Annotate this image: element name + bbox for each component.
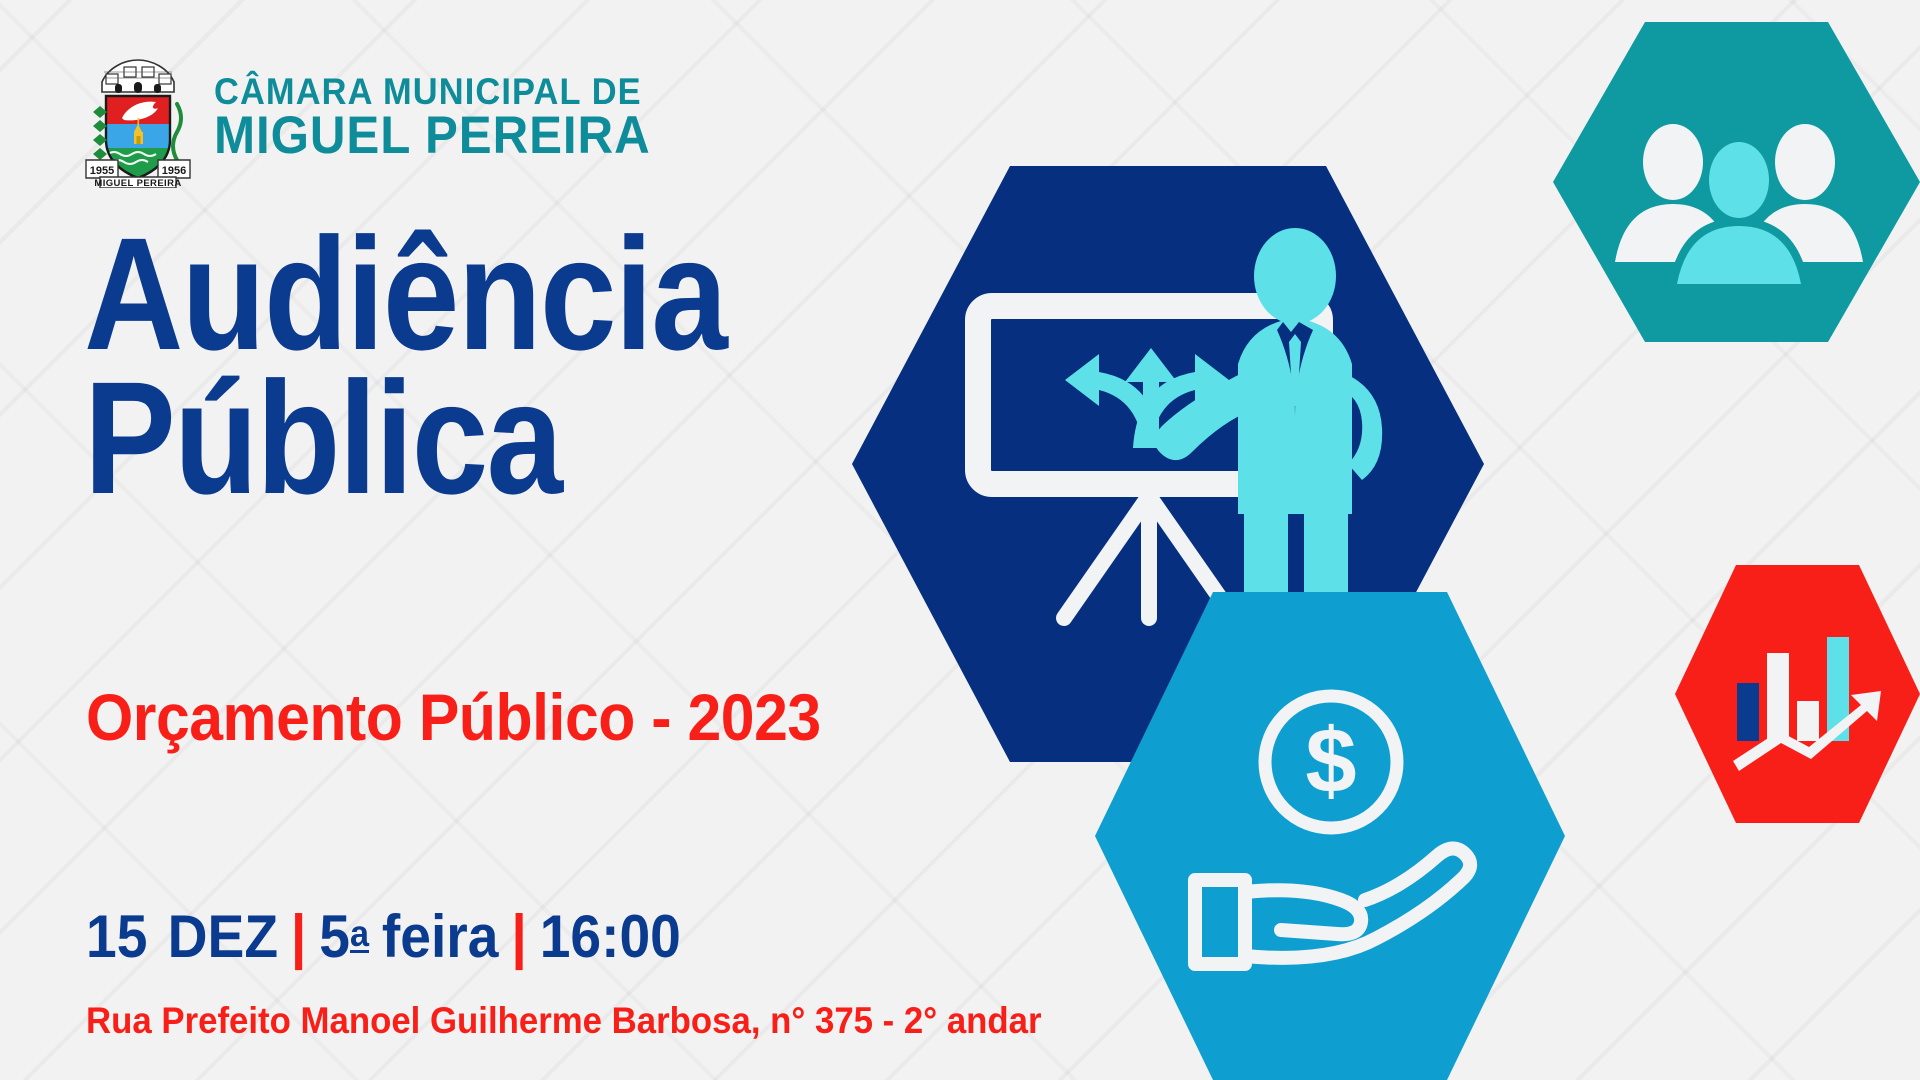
event-time: 16:00: [540, 902, 681, 971]
chart-hexagon: [1675, 565, 1920, 823]
event-weekday-number: 5: [319, 902, 350, 971]
dateline-separator-1: |: [291, 902, 306, 971]
crest-year-left: 1955: [90, 165, 114, 177]
event-dateline: 15 DEZ | 5a feira | 16:00: [86, 902, 681, 971]
event-weekday-ordinal: a: [350, 912, 369, 955]
headline-line-1: Audiência: [84, 222, 726, 366]
hexagon-shape: [1675, 565, 1920, 823]
crest-banner-text: MIGUEL PEREIRA: [94, 178, 181, 188]
event-address: Rua Prefeito Manoel Guilherme Barbosa, n…: [86, 1000, 1042, 1042]
event-weekday-word: feira: [382, 902, 499, 971]
money-hexagon: $: [1095, 592, 1565, 1080]
event-day: 15: [86, 902, 147, 971]
dollar-sign: $: [1305, 710, 1356, 812]
crest-year-right: 1956: [162, 165, 186, 177]
hexagon-shape: [1095, 592, 1565, 1080]
organization-name: CÂMARA MUNICIPAL DE MIGUEL PEREIRA: [214, 74, 683, 162]
org-line-1: CÂMARA MUNICIPAL DE: [214, 74, 651, 110]
subtitle: Orçamento Público - 2023: [86, 679, 821, 755]
page-title: Audiência Pública: [84, 222, 831, 510]
dateline-separator-2: |: [511, 902, 526, 971]
headline-line-2: Pública: [84, 366, 726, 510]
coat-of-arms-icon: 1955 1956 MIGUEL PEREIRA: [84, 48, 192, 188]
people-hexagon: [1553, 22, 1920, 352]
event-month: DEZ: [168, 902, 278, 971]
header: 1955 1956 MIGUEL PEREIRA CÂMARA MUNICIPA…: [84, 48, 683, 188]
org-line-2: MIGUEL PEREIRA: [214, 111, 651, 162]
